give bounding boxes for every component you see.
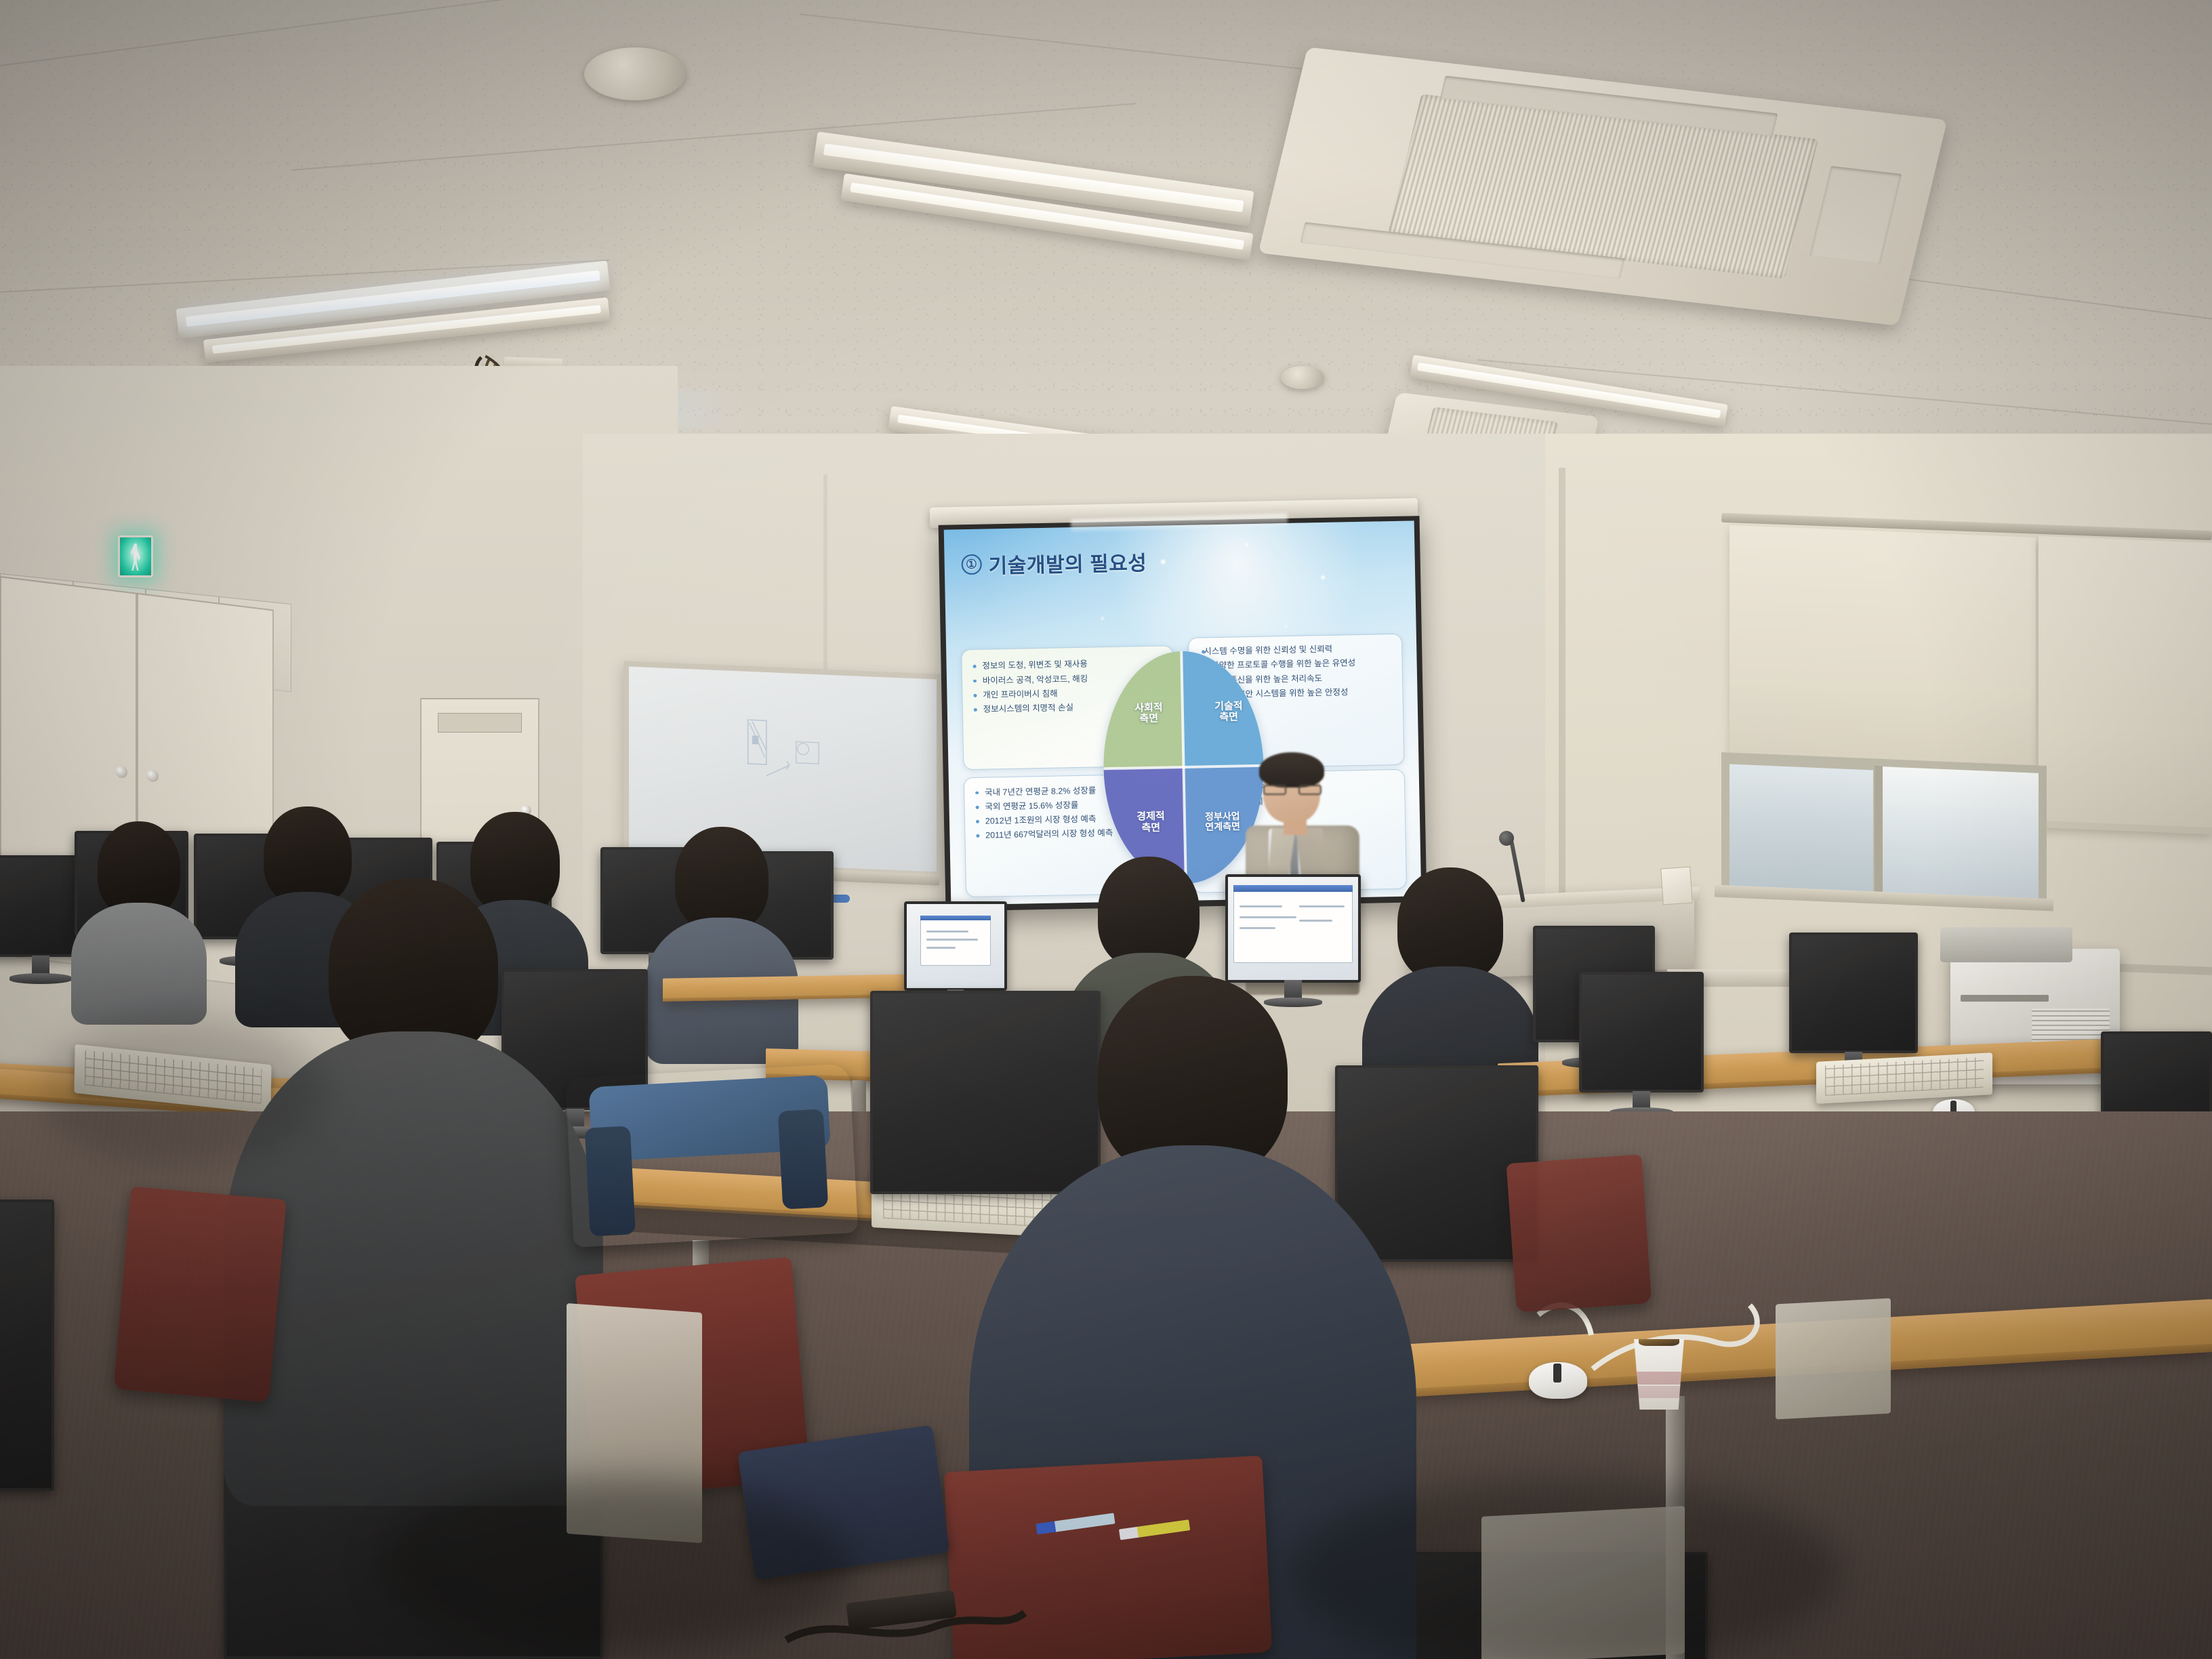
seated-student-foreground: [224, 878, 603, 1488]
slide-number-badge: ①: [961, 554, 982, 575]
whiteboard-marking: [721, 693, 863, 826]
presenter-hair: [1259, 752, 1324, 787]
classroom-photo: ① 기술개발의 필요성 정보의 도청, 위변조 및 재사용 바이러스 공격, 악…: [0, 0, 2212, 1659]
window-preview: [920, 916, 990, 966]
lcd-monitor-showing-window: [1225, 874, 1361, 983]
lcd-monitor: [0, 1200, 54, 1491]
door-sign-plate: [438, 713, 522, 733]
slide-title-text: 기술개발의 필요성: [988, 546, 1147, 579]
emergency-exit-sign: [118, 535, 153, 577]
ceiling-speaker-dome: [584, 47, 686, 100]
paper-cup-with-snacks[interactable]: [1631, 1339, 1687, 1410]
seated-student: [651, 827, 793, 1044]
window-titlebar: [920, 916, 990, 920]
slide-four-quadrant-circle: 사회적 측면 기술적 측면 경제적 측면 정부사업 연계측면: [1101, 649, 1266, 885]
window-titlebar: [1233, 885, 1353, 892]
window: [1883, 766, 2039, 899]
lcd-monitor: [1579, 972, 1704, 1092]
podium-document: [1660, 867, 1693, 905]
cpu-tower: [1776, 1298, 1891, 1420]
slide-title: ① 기술개발의 필요성: [961, 546, 1147, 579]
roller-blind[interactable]: [1729, 525, 2036, 775]
ceiling-smoke-detector: [1281, 366, 1324, 389]
backpack-strap: [778, 1109, 829, 1209]
roller-blind[interactable]: [2039, 536, 2212, 834]
window: [1729, 764, 1873, 897]
lcd-monitor: [1789, 933, 1918, 1053]
window-mullion: [1875, 766, 1883, 899]
classroom-chair[interactable]: [113, 1187, 286, 1403]
seated-student: [75, 821, 203, 1011]
circle-divider: [1101, 649, 1266, 885]
backpack-strap: [585, 1126, 636, 1236]
eyeglasses-icon: [1263, 785, 1322, 796]
window-preview: [1233, 885, 1353, 963]
backpack[interactable]: [565, 1063, 859, 1248]
classroom-chair[interactable]: [1507, 1154, 1652, 1312]
running-person-icon: [131, 544, 140, 571]
microphone-head-icon: [1499, 831, 1514, 846]
